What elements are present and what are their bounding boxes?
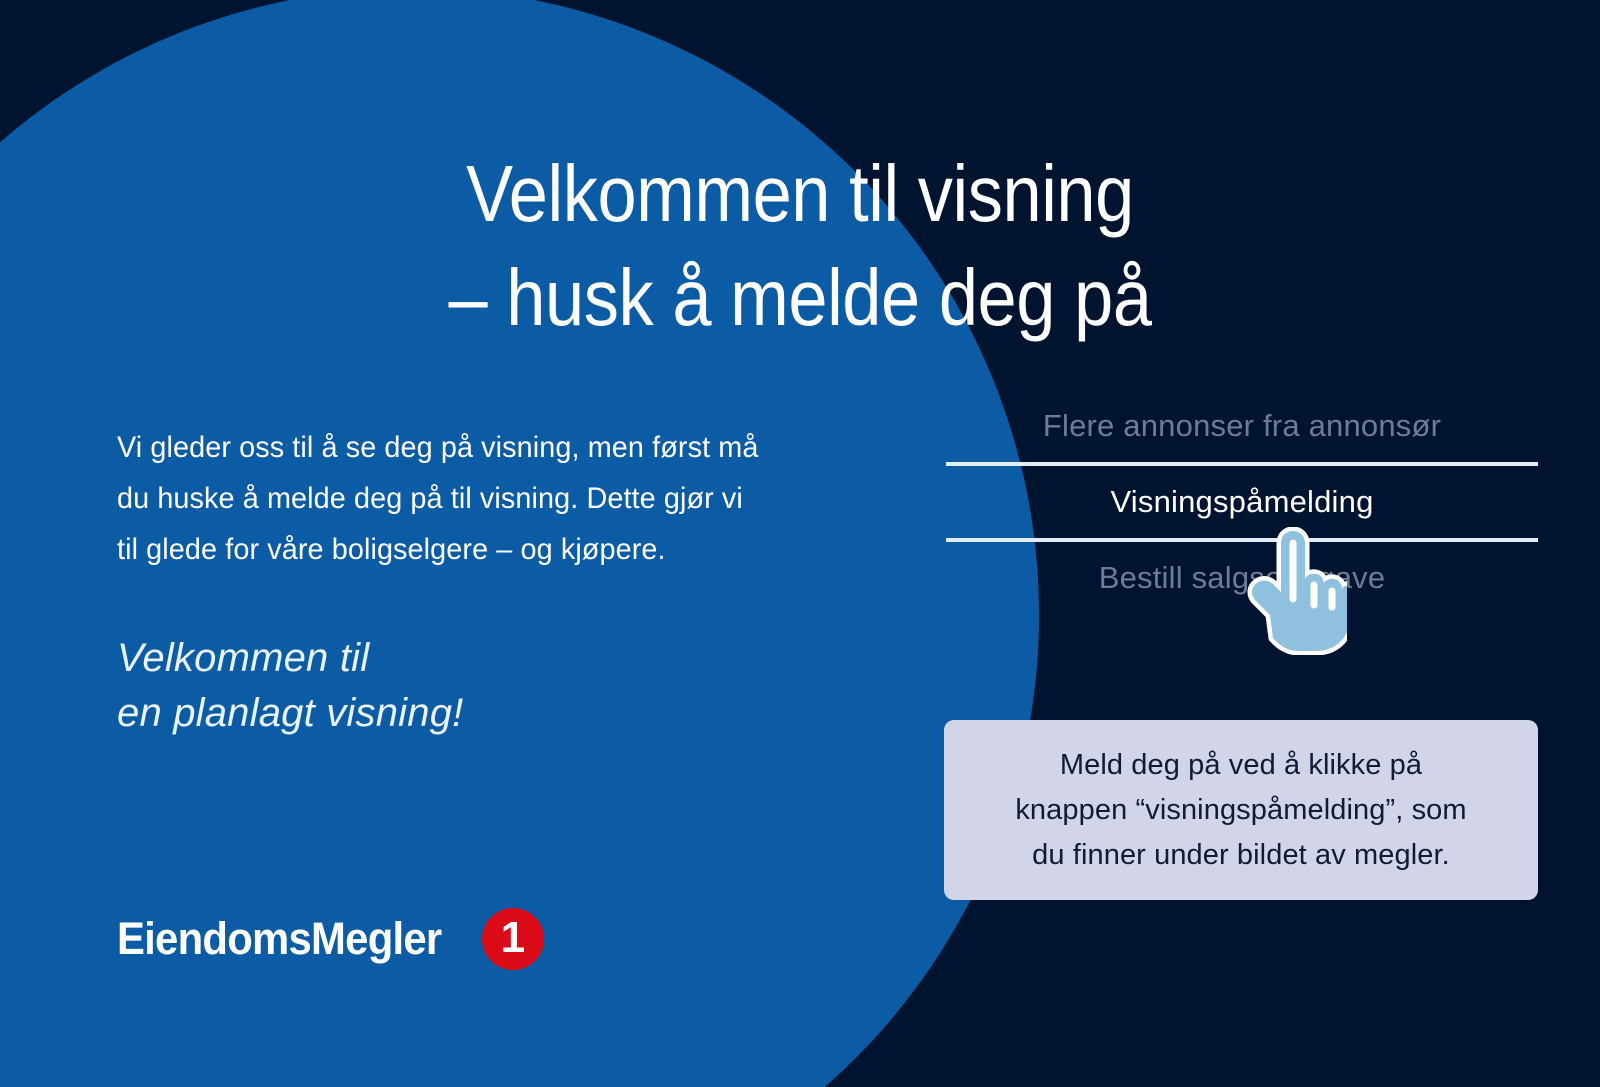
menu-item-flere-annonser[interactable]: Flere annonser fra annonsør — [946, 390, 1538, 462]
menu-item-bestill-salgsoppgave[interactable]: Bestill salgsoppgave — [946, 542, 1538, 614]
instruction-tooltip-text: Meld deg på ved å klikke på knappen “vis… — [1015, 743, 1466, 878]
slide-canvas: Velkommen til visning – husk å melde deg… — [0, 0, 1600, 1087]
eiendomsmegler1-logo: EiendomsMegler 1 — [117, 908, 544, 970]
tagline-text: Velkommen til en planlagt visning! — [117, 631, 887, 741]
menu-item-visningspamelding[interactable]: Visningspåmelding — [946, 466, 1538, 538]
instruction-tooltip: Meld deg på ved å klikke på knappen “vis… — [944, 720, 1538, 900]
logo-number-badge-icon: 1 — [482, 908, 544, 970]
listing-action-menu: Flere annonser fra annonsør Visningspåme… — [946, 390, 1538, 614]
body-paragraph: Vi gleder oss til å se deg på visning, m… — [117, 422, 856, 575]
logo-wordmark: EiendomsMegler — [117, 913, 441, 965]
page-title: Velkommen til visning – husk å melde deg… — [96, 142, 1504, 350]
left-content-column: Vi gleder oss til å se deg på visning, m… — [117, 392, 887, 781]
